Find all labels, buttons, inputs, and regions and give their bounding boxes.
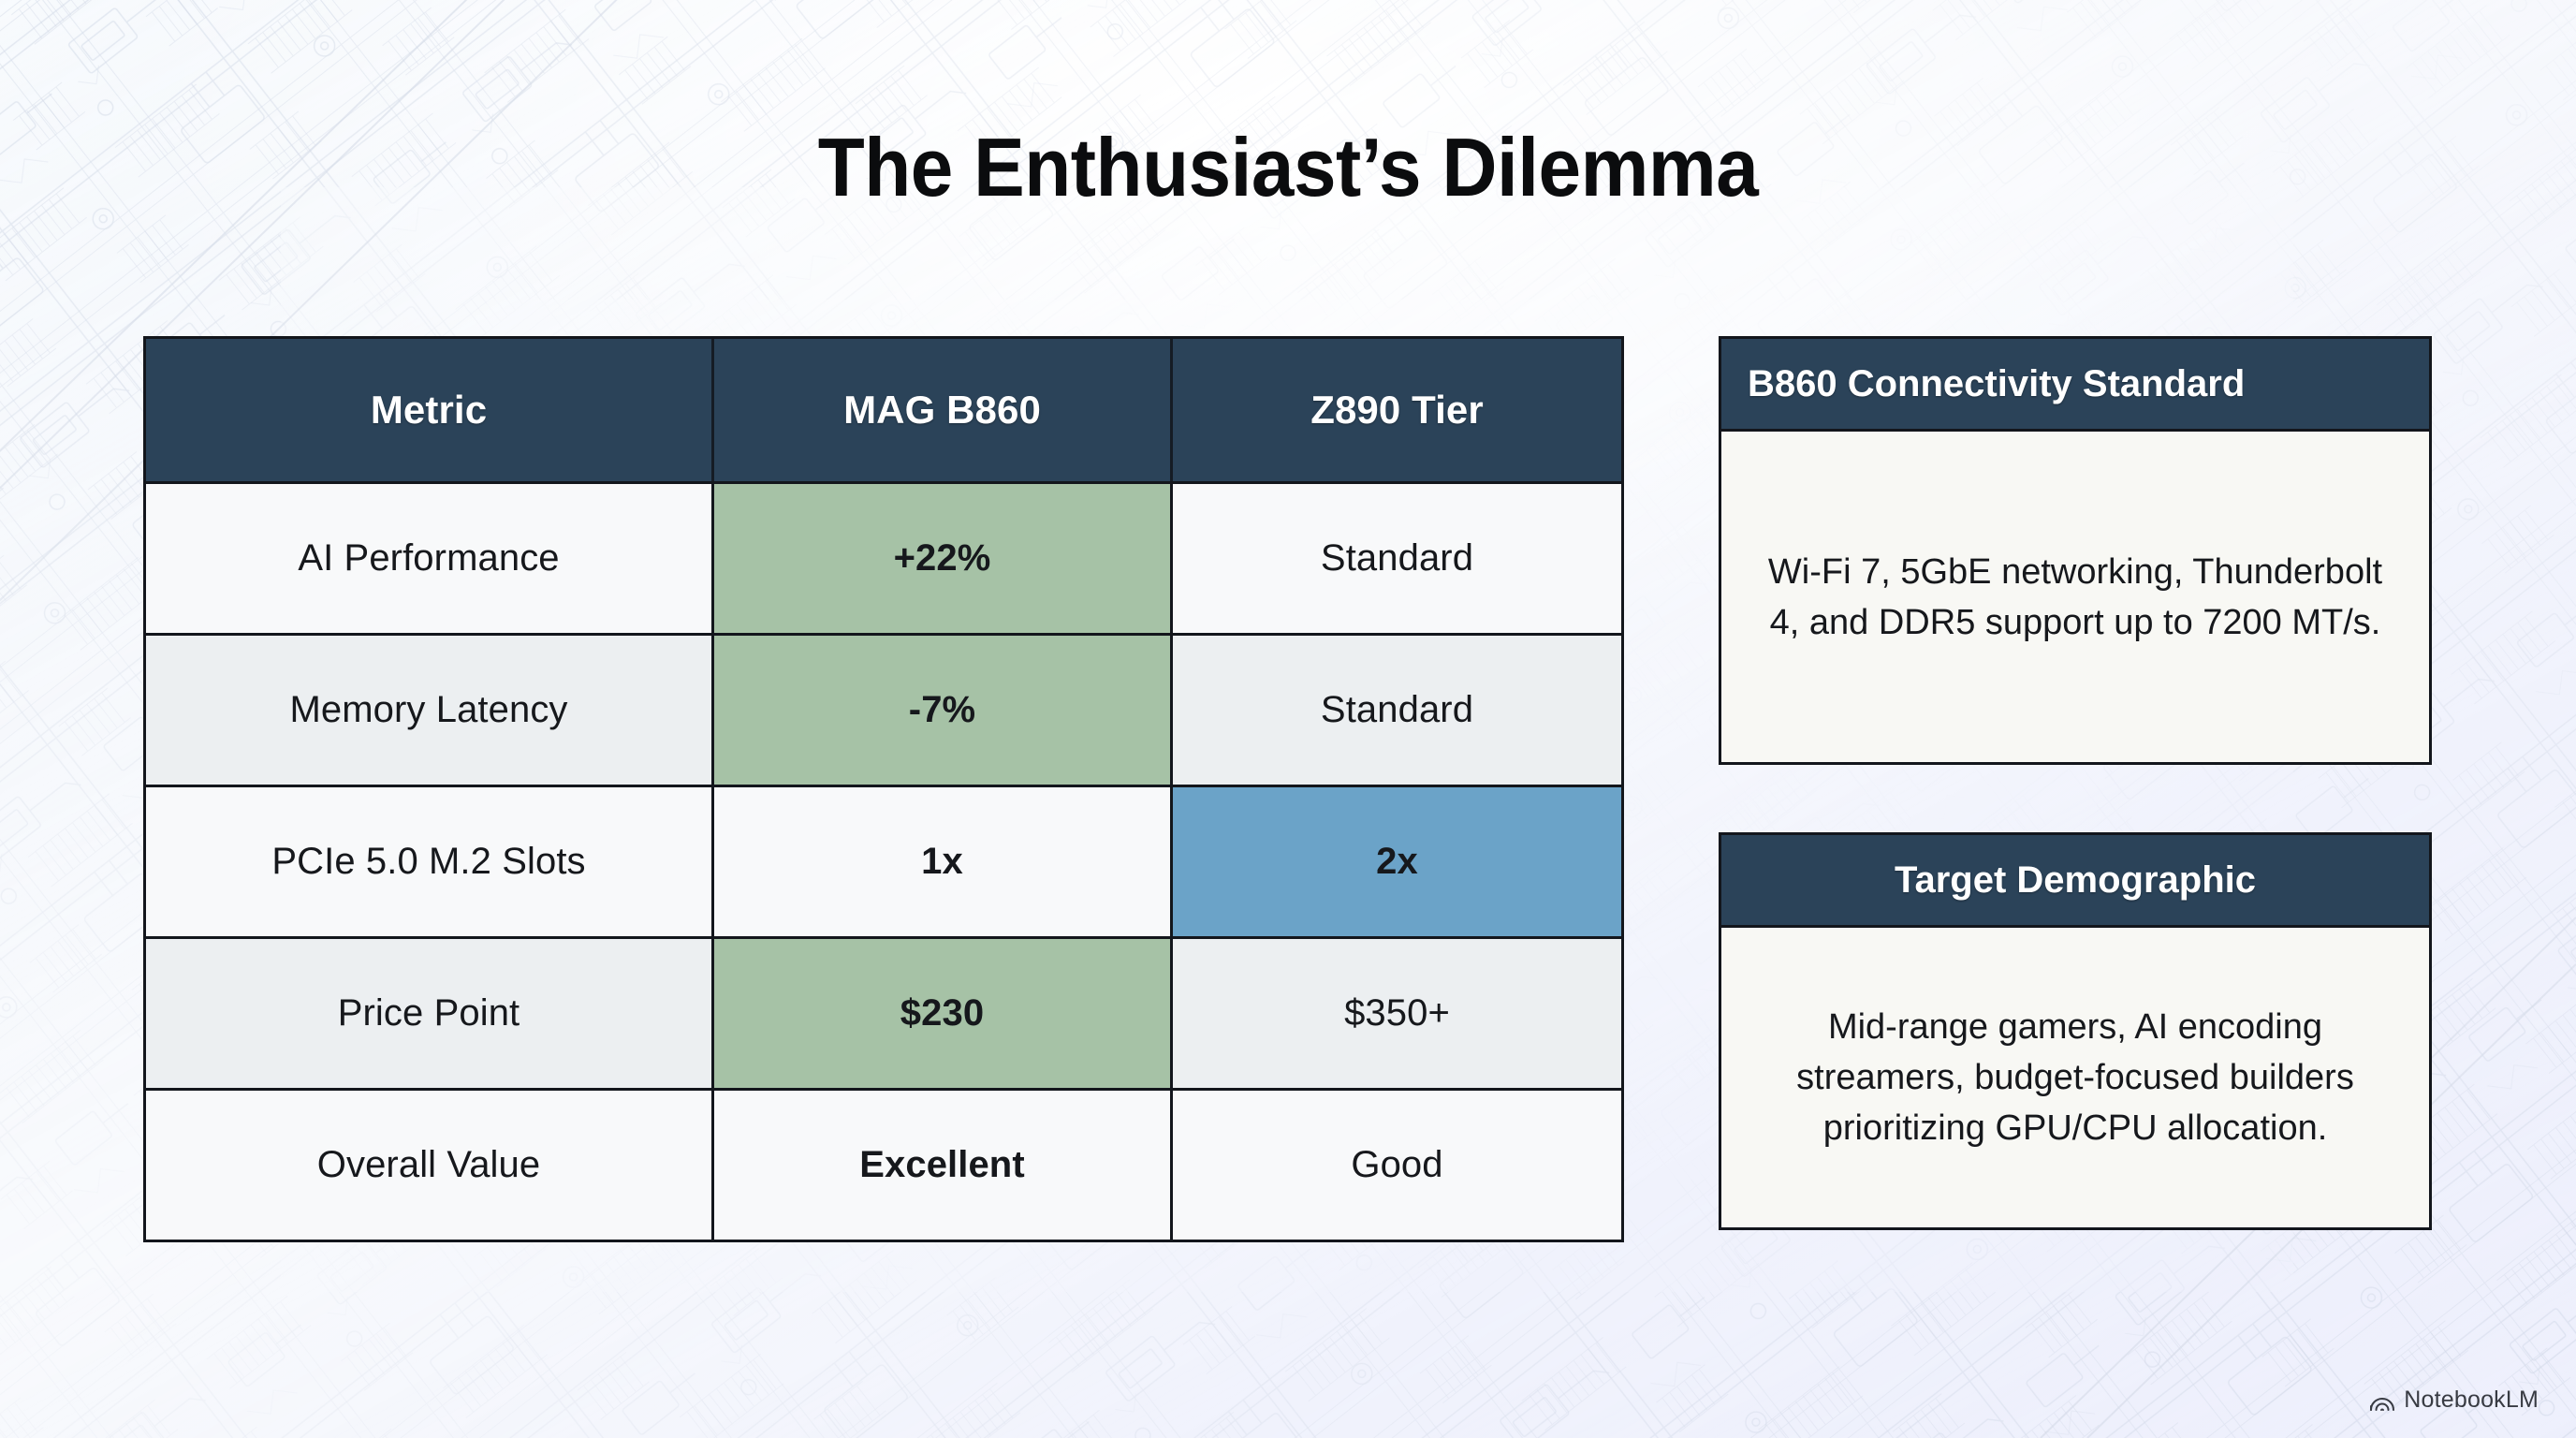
info-card-title: Target Demographic: [1721, 835, 2429, 928]
info-card-body: Mid-range gamers, AI encoding streamers,…: [1721, 928, 2429, 1229]
cell-metric-name: AI Performance: [146, 484, 711, 633]
cell-z890-tier-value: $350+: [1170, 939, 1621, 1088]
table-row: Price Point $230 $350+: [146, 936, 1621, 1088]
cell-z890-tier-value: Good: [1170, 1091, 1621, 1240]
cell-mag-b860-value: -7%: [711, 636, 1170, 785]
cell-mag-b860-value: 1x: [711, 787, 1170, 936]
cell-metric-name: PCIe 5.0 M.2 Slots: [146, 787, 711, 936]
notebooklm-watermark: NotebookLM: [2369, 1387, 2539, 1414]
column-header-metric: Metric: [146, 339, 711, 481]
cell-mag-b860-value: +22%: [711, 484, 1170, 633]
table-row: PCIe 5.0 M.2 Slots 1x 2x: [146, 785, 1621, 936]
info-card-connectivity: B860 Connectivity Standard Wi-Fi 7, 5GbE…: [1719, 336, 2432, 765]
info-card-body: Wi-Fi 7, 5GbE networking, Thunderbolt 4,…: [1721, 432, 2429, 764]
cell-metric-name: Overall Value: [146, 1091, 711, 1240]
page-title: The Enthusiast’s Dilemma: [90, 124, 2485, 211]
cell-z890-tier-value: Standard: [1170, 484, 1621, 633]
info-card-target-demographic: Target Demographic Mid-range gamers, AI …: [1719, 832, 2432, 1230]
cell-z890-tier-value: Standard: [1170, 636, 1621, 785]
cell-metric-name: Price Point: [146, 939, 711, 1088]
table-header-row: Metric MAG B860 Z890 Tier: [146, 339, 1621, 481]
watermark-label: NotebookLM: [2404, 1387, 2539, 1414]
notebooklm-spiral-icon: [2369, 1388, 2395, 1413]
info-card-title: B860 Connectivity Standard: [1721, 339, 2429, 432]
cell-mag-b860-value: Excellent: [711, 1091, 1170, 1240]
cell-z890-tier-value: 2x: [1170, 787, 1621, 936]
cell-mag-b860-value: $230: [711, 939, 1170, 1088]
cell-metric-name: Memory Latency: [146, 636, 711, 785]
column-header-z890-tier: Z890 Tier: [1170, 339, 1621, 481]
table-row: AI Performance +22% Standard: [146, 481, 1621, 633]
comparison-table: Metric MAG B860 Z890 Tier AI Performance…: [143, 336, 1624, 1242]
table-row: Overall Value Excellent Good: [146, 1088, 1621, 1240]
table-row: Memory Latency -7% Standard: [146, 633, 1621, 785]
column-header-mag-b860: MAG B860: [711, 339, 1170, 481]
